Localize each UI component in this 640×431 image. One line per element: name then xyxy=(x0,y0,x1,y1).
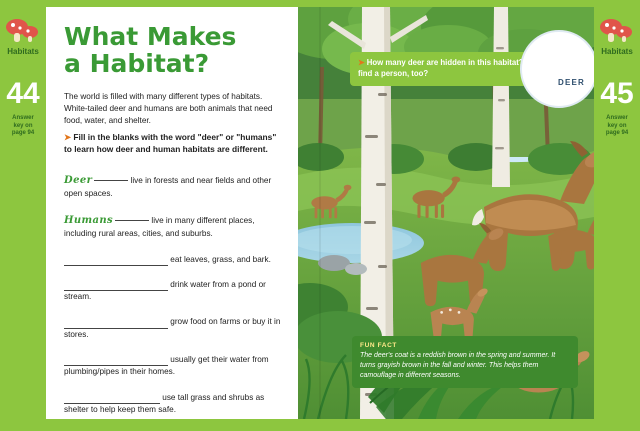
frame-top xyxy=(0,0,640,7)
blank-line[interactable] xyxy=(64,394,160,404)
answer-written: Deer xyxy=(64,175,92,186)
direction-line: ➤ Fill in the blanks with the word "deer… xyxy=(64,131,282,155)
list-item[interactable]: Humans live in many different places, in… xyxy=(64,213,286,240)
fun-fact-box: FUN FACT The deer's coat is a reddish br… xyxy=(352,336,578,388)
page-number-block: 45 Answer key on page 94 xyxy=(594,79,640,138)
fun-fact-title: FUN FACT xyxy=(360,342,570,349)
page-number: 44 xyxy=(0,79,46,109)
list-item[interactable]: drink water from a pond or stream. xyxy=(64,279,286,304)
list-item[interactable]: eat leaves, grass, and bark. xyxy=(64,254,286,266)
book-spine xyxy=(319,7,321,419)
list-item[interactable]: use tall grass and shrubs as shelter to … xyxy=(64,392,286,417)
direction-text: Fill in the blanks with the word "deer" … xyxy=(64,132,276,154)
intro-paragraph: The world is filled with many different … xyxy=(64,91,279,127)
page-number: 45 xyxy=(594,79,640,109)
page-number-block: 44 Answer key on page 94 xyxy=(0,79,46,138)
mushroom-icon xyxy=(5,16,41,44)
list-item[interactable]: Deer live in forests and near fields and… xyxy=(64,173,286,200)
arrow-icon: ➤ xyxy=(358,58,365,67)
blank-line[interactable] xyxy=(64,319,168,329)
tab-label: Habitats xyxy=(594,47,640,56)
sticker-label: DEER xyxy=(558,78,585,87)
list-item[interactable]: grow food on farms or buy it in stores. xyxy=(64,316,286,341)
answer-key-note: Answer key on page 94 xyxy=(0,115,46,138)
mushroom-icon xyxy=(599,16,635,44)
left-page: What Makes a Habitat? The world is fille… xyxy=(46,7,298,419)
fun-fact-body: The deer's coat is a reddish brown in th… xyxy=(360,351,570,381)
right-tab: Habitats 45 Answer key on page 94 xyxy=(594,7,640,425)
page-title: What Makes a Habitat? xyxy=(64,23,236,77)
workbook-page: What Makes a Habitat? The world is fille… xyxy=(0,0,640,431)
blank-line[interactable] xyxy=(64,281,168,291)
list-item[interactable]: usually get their water from plumbing/pi… xyxy=(64,354,286,379)
title-line-1: What Makes xyxy=(64,23,236,50)
sticker-circle xyxy=(520,30,598,108)
item-text: eat leaves, grass, and bark. xyxy=(170,255,271,264)
blank-line[interactable] xyxy=(64,256,168,266)
left-tab: Habitats 44 Answer key on page 94 xyxy=(0,7,46,425)
answer-key-note: Answer key on page 94 xyxy=(594,115,640,138)
title-line-2: a Habitat? xyxy=(64,50,236,77)
frame-bottom xyxy=(0,419,640,431)
arrow-icon: ➤ xyxy=(64,132,71,142)
blank-line[interactable] xyxy=(64,356,168,366)
fill-in-blank-list: Deer live in forests and near fields and… xyxy=(64,173,286,431)
answer-written: Humans xyxy=(64,215,113,226)
tab-label: Habitats xyxy=(0,47,46,56)
